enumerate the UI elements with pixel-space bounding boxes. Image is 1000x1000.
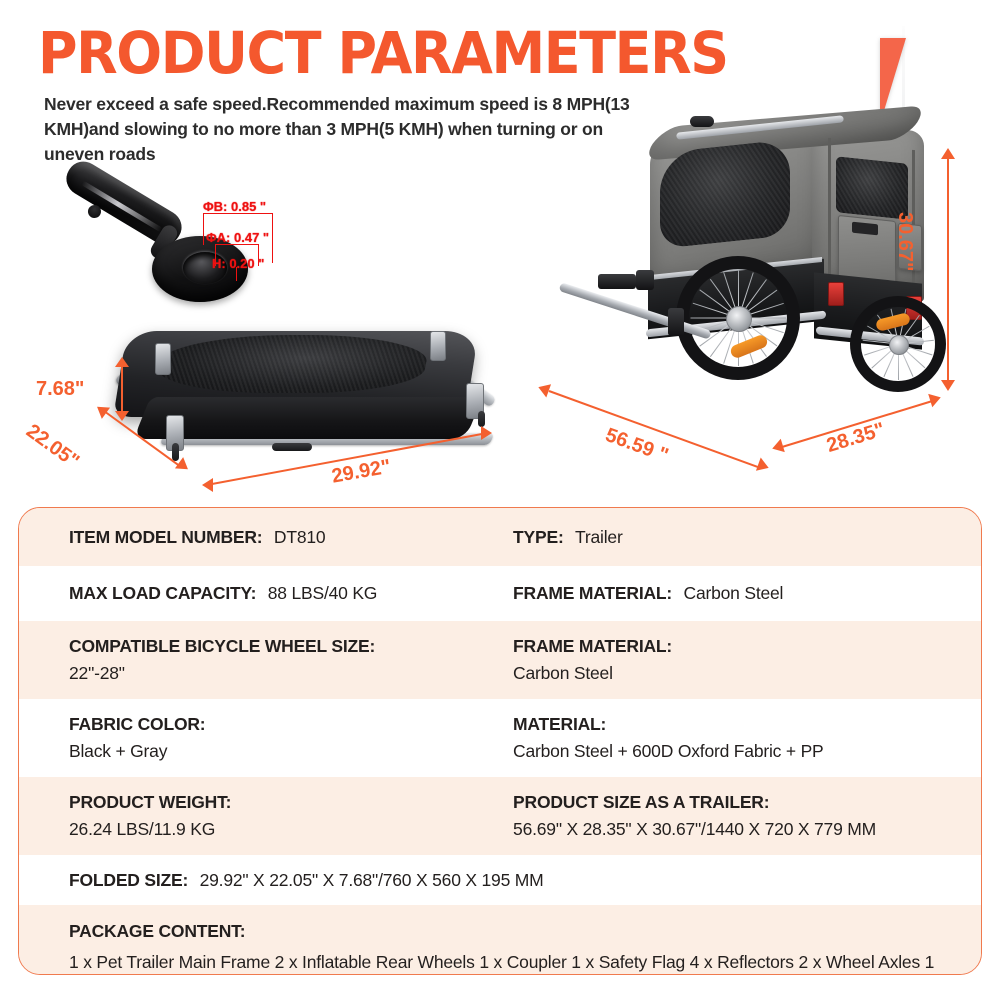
- spec-label: MATERIAL:: [513, 714, 981, 735]
- spec-cell: FRAME MATERIAL: Carbon Steel: [513, 583, 981, 604]
- spec-value: Carbon Steel: [684, 583, 784, 603]
- specifications-table: ITEM MODEL NUMBER: DT810 TYPE: Trailer M…: [18, 507, 982, 975]
- spec-label: FOLDED SIZE:: [69, 870, 188, 890]
- spec-cell: FRAME MATERIAL: Carbon Steel: [513, 636, 981, 684]
- folded-corner-bracket-left-rear: [155, 343, 171, 375]
- spec-value: Carbon Steel + 600D Oxford Fabric + PP: [513, 741, 981, 762]
- trailer-rear-mesh-window: [836, 156, 908, 220]
- spec-value: 1 x Pet Trailer Main Frame 2 x Inflatabl…: [69, 949, 941, 975]
- folded-corner-bracket-right-rear: [430, 331, 446, 361]
- spec-cell: TYPE: Trailer: [513, 527, 981, 548]
- trailer-height-arrow-up: [941, 148, 955, 159]
- trailer-side-mesh-window: [660, 139, 790, 249]
- trailer-front-hub: [726, 306, 752, 332]
- coupler-inner-diameter-label: ΦA: 0.47 ": [206, 230, 269, 245]
- trailer-width-arrow-left: [770, 439, 785, 456]
- trailer-hitch-head: [598, 274, 636, 289]
- spec-value: Carbon Steel: [513, 663, 981, 684]
- spec-value: Black + Gray: [69, 741, 513, 762]
- spec-value: 26.24 LBS/11.9 KG: [69, 819, 513, 840]
- trailer-height-label: 30.67": [893, 212, 916, 272]
- folded-height-line: [121, 365, 123, 413]
- coupler-inner-extension-left: [215, 244, 216, 266]
- trailer-hitch-clamp: [636, 270, 654, 290]
- spec-cell: COMPATIBLE BICYCLE WHEEL SIZE: 22"-28": [19, 636, 513, 684]
- folded-trailer-illustration: [100, 325, 520, 480]
- spec-label: FABRIC COLOR:: [69, 714, 513, 735]
- folded-mesh-panel: [152, 335, 431, 393]
- folded-support-leg-center: [272, 443, 312, 451]
- spec-label: ITEM MODEL NUMBER:: [69, 527, 262, 547]
- spec-label: PACKAGE CONTENT:: [69, 921, 941, 942]
- folded-width-arrow-right: [481, 426, 492, 440]
- coupler-outer-diameter-label: ΦB: 0.85 ": [203, 199, 266, 214]
- spec-cell: PRODUCT WEIGHT: 26.24 LBS/11.9 KG: [19, 792, 513, 840]
- trailer-rear-zipper-left: [828, 138, 831, 288]
- spec-cell: FABRIC COLOR: Black + Gray: [19, 714, 513, 762]
- trailer-height-arrow-down: [941, 380, 955, 391]
- trailer-height-line: [947, 158, 949, 382]
- spec-cell: PACKAGE CONTENT: 1 x Pet Trailer Main Fr…: [19, 921, 981, 975]
- spec-value: 22"-28": [69, 663, 513, 684]
- product-parameters-page: PRODUCT PARAMETERS Never exceed a safe s…: [0, 0, 1000, 1000]
- spec-value: Trailer: [575, 527, 623, 547]
- folded-support-leg-left: [172, 443, 179, 461]
- spec-label: FRAME MATERIAL:: [513, 636, 981, 657]
- spec-label: PRODUCT WEIGHT:: [69, 792, 513, 813]
- spec-cell: PRODUCT SIZE AS A TRAILER: 56.69" X 28.3…: [513, 792, 981, 840]
- spec-label: TYPE:: [513, 527, 564, 547]
- coupler-height-span: [236, 267, 237, 281]
- folded-fabric-skirt: [134, 397, 483, 439]
- folded-height-arrow-up: [115, 357, 129, 367]
- trailer-roof-crossbar: [690, 116, 714, 127]
- trailer-length-arrow-end: [756, 458, 771, 475]
- folded-width-arrow-left: [202, 478, 213, 492]
- spec-label: COMPATIBLE BICYCLE WHEEL SIZE:: [69, 636, 513, 657]
- folded-support-leg-right: [478, 411, 485, 427]
- spec-value: 88 LBS/40 KG: [268, 583, 377, 603]
- coupler-outer-extension-left: [203, 213, 204, 245]
- table-row: PACKAGE CONTENT: 1 x Pet Trailer Main Fr…: [19, 905, 981, 975]
- trailer-rear-wheel: [850, 296, 946, 392]
- spec-value: DT810: [274, 527, 326, 547]
- coupler-height-label: H: 0.20 ": [212, 256, 264, 271]
- spec-label: PRODUCT SIZE AS A TRAILER:: [513, 792, 981, 813]
- spec-value: 29.92" X 22.05" X 7.68"/760 X 560 X 195 …: [200, 870, 544, 890]
- trailer-coupler-mount: [668, 308, 684, 336]
- spec-value: 56.69" X 28.35" X 30.67"/1440 X 720 X 77…: [513, 819, 981, 840]
- spec-cell: MATERIAL: Carbon Steel + 600D Oxford Fab…: [513, 714, 981, 762]
- table-row: FOLDED SIZE: 29.92" X 22.05" X 7.68"/760…: [19, 855, 981, 905]
- folded-depth-label: 22.05": [21, 420, 83, 474]
- spec-cell: ITEM MODEL NUMBER: DT810: [19, 527, 513, 548]
- table-row: ITEM MODEL NUMBER: DT810 TYPE: Trailer: [19, 508, 981, 566]
- trailer-rear-hub: [889, 335, 909, 355]
- spec-cell: FOLDED SIZE: 29.92" X 22.05" X 7.68"/760…: [19, 870, 981, 891]
- table-row: FABRIC COLOR: Black + Gray MATERIAL: Car…: [19, 699, 981, 777]
- table-row: COMPATIBLE BICYCLE WHEEL SIZE: 22"-28" F…: [19, 621, 981, 699]
- coupler-inner-extension-right: [258, 244, 259, 266]
- coupler-outer-extension-right: [272, 213, 273, 263]
- coupler-inner-span: [215, 244, 259, 245]
- trailer-front-wheel: [676, 256, 800, 380]
- spec-label: MAX LOAD CAPACITY:: [69, 583, 256, 603]
- table-row: MAX LOAD CAPACITY: 88 LBS/40 KG FRAME MA…: [19, 566, 981, 621]
- spec-cell: MAX LOAD CAPACITY: 88 LBS/40 KG: [19, 583, 513, 604]
- table-row: PRODUCT WEIGHT: 26.24 LBS/11.9 KG PRODUC…: [19, 777, 981, 855]
- folded-height-label: 7.68": [36, 378, 84, 401]
- coupler-outer-span: [203, 213, 273, 214]
- spec-label: FRAME MATERIAL:: [513, 583, 672, 603]
- trailer-red-reflector-left: [828, 282, 844, 306]
